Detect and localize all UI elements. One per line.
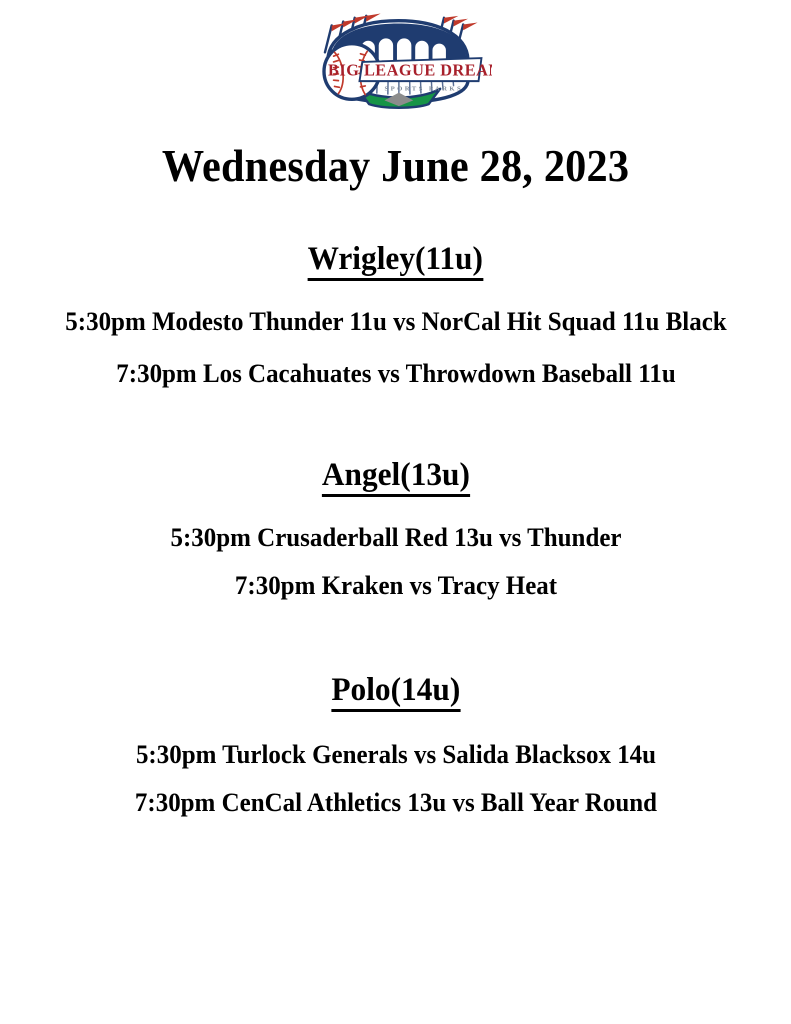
- section-polo: Polo(14u) 5:30pm Turlock Generals vs Sal…: [0, 674, 791, 818]
- game-line: 7:30pm CenCal Athletics 13u vs Ball Year…: [50, 788, 741, 818]
- logo-banner-text: BIG LEAGUE DREAMS: [328, 60, 492, 79]
- big-league-dreams-logo: BIG LEAGUE DREAMS SPORTS PARKS: [300, 8, 492, 112]
- field-heading-angel: Angel(13u): [321, 459, 469, 497]
- game-line: 5:30pm Turlock Generals vs Salida Blacks…: [50, 740, 741, 770]
- schedule-page: BIG LEAGUE DREAMS SPORTS PARKS Wednesday…: [0, 0, 791, 1024]
- game-list-wrigley: 5:30pm Modesto Thunder 11u vs NorCal Hit…: [0, 307, 791, 389]
- game-line: 7:30pm Los Cacahuates vs Throwdown Baseb…: [50, 359, 741, 389]
- section-heading-row: Wrigley(11u): [0, 243, 791, 281]
- logo-sub-text: SPORTS PARKS: [384, 86, 463, 93]
- section-wrigley: Wrigley(11u) 5:30pm Modesto Thunder 11u …: [0, 243, 791, 389]
- logo-header: BIG LEAGUE DREAMS SPORTS PARKS: [0, 0, 791, 112]
- section-angel: Angel(13u) 5:30pm Crusaderball Red 13u v…: [0, 459, 791, 601]
- field-heading-polo: Polo(14u): [331, 674, 460, 712]
- game-line: 7:30pm Kraken vs Tracy Heat: [50, 571, 741, 601]
- game-list-polo: 5:30pm Turlock Generals vs Salida Blacks…: [0, 740, 791, 818]
- game-line: 5:30pm Modesto Thunder 11u vs NorCal Hit…: [50, 307, 741, 337]
- section-heading-row: Polo(14u): [0, 674, 791, 712]
- field-heading-wrigley: Wrigley(11u): [308, 243, 483, 281]
- section-heading-row: Angel(13u): [0, 459, 791, 497]
- page-title: Wednesday June 28, 2023: [24, 112, 768, 189]
- game-line: 5:30pm Crusaderball Red 13u vs Thunder: [50, 523, 741, 553]
- game-list-angel: 5:30pm Crusaderball Red 13u vs Thunder 7…: [0, 523, 791, 601]
